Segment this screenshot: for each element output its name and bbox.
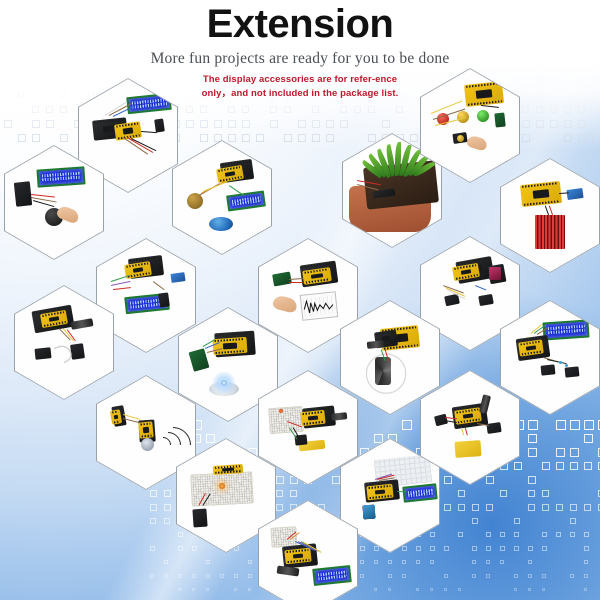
page-title: Extension — [0, 4, 600, 44]
disclaimer-notice: The display accessories are for refer-en… — [195, 73, 405, 101]
extension-gallery-page: Extension More fun projects are ready fo… — [0, 0, 600, 600]
page-subtitle: More fun projects are ready for you to b… — [0, 50, 600, 68]
page-header: Extension More fun projects are ready fo… — [0, 0, 600, 101]
